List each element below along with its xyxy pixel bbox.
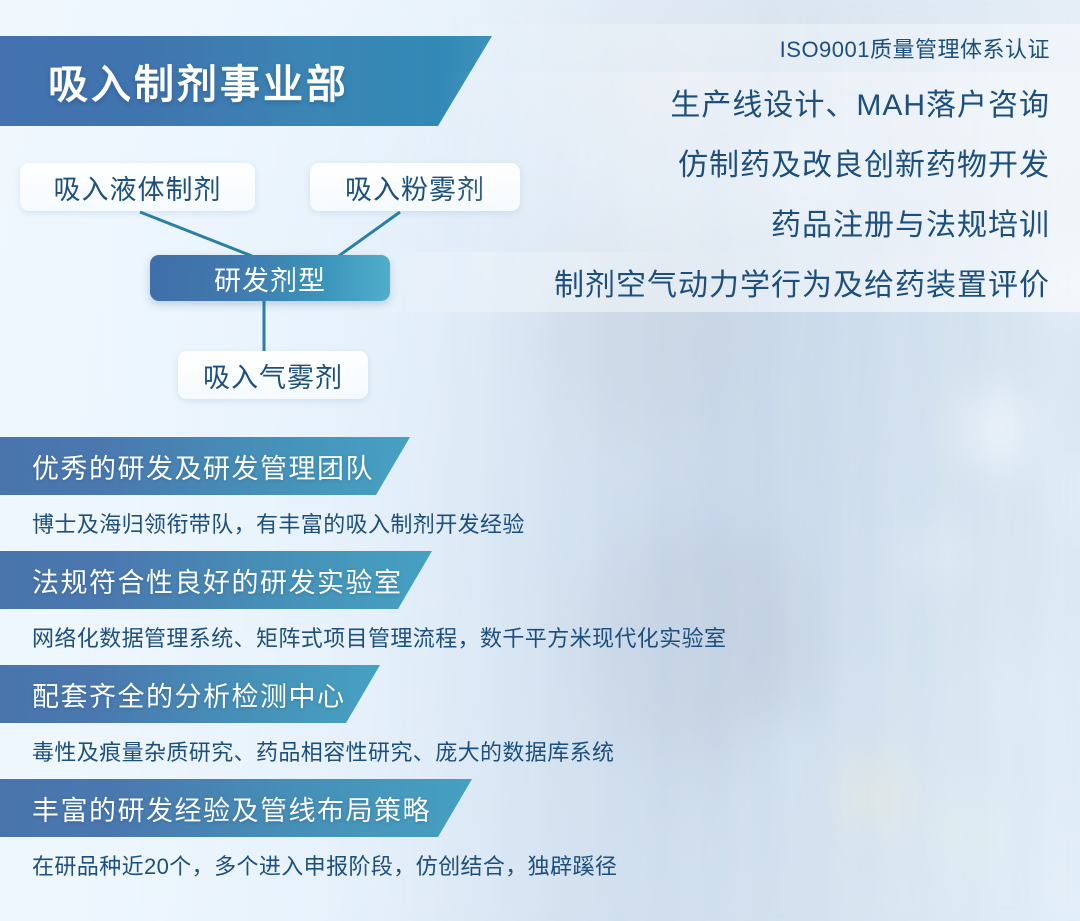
feature-description-label: 博士及海归领衔带队，有丰富的吸入制剂开发经验 xyxy=(32,507,525,539)
feature-title-bar: 法规符合性良好的研发实验室 xyxy=(0,551,432,609)
service-item-generic-drug-development: 仿制药及改良创新药物开发 xyxy=(440,132,1080,192)
feature-description: 在研品种近20个，多个进入申报阶段，仿创结合，独辟蹊径 xyxy=(0,837,760,893)
feature-block-laboratory: 法规符合性良好的研发实验室 网络化数据管理系统、矩阵式项目管理流程，数千平方米现… xyxy=(0,551,760,665)
feature-title-bar: 配套齐全的分析检测中心 xyxy=(0,665,380,723)
feature-block-analysis-center: 配套齐全的分析检测中心 毒性及痕量杂质研究、药品相容性研究、庞大的数据库系统 xyxy=(0,665,760,779)
feature-block-pipeline-strategy: 丰富的研发经验及管线布局策略 在研品种近20个，多个进入申报阶段，仿创结合，独辟… xyxy=(0,779,760,893)
feature-title-bar: 丰富的研发经验及管线布局策略 xyxy=(0,779,472,837)
service-item-registration-training: 药品注册与法规培训 xyxy=(440,192,1080,252)
service-item-label: 生产线设计、MAH落户咨询 xyxy=(670,80,1050,124)
service-item-label: 药品注册与法规培训 xyxy=(771,200,1050,244)
feature-description: 博士及海归领衔带队，有丰富的吸入制剂开发经验 xyxy=(0,495,760,551)
feature-description-label: 网络化数据管理系统、矩阵式项目管理流程，数千平方米现代化实验室 xyxy=(32,621,726,653)
service-item-label: 制剂空气动力学行为及给药装置评价 xyxy=(554,260,1050,304)
tree-node-inhalation-aerosol[interactable]: 吸入气雾剂 xyxy=(178,351,368,399)
title-banner: 吸入制剂事业部 xyxy=(0,36,492,126)
poster-canvas: 吸入制剂事业部 吸入液体制剂 吸入粉雾剂 研发剂型 吸入气雾剂 ISO9001质… xyxy=(0,0,1080,921)
feature-description-label: 毒性及痕量杂质研究、药品相容性研究、庞大的数据库系统 xyxy=(32,735,614,767)
service-item-iso9001: ISO9001质量管理体系认证 xyxy=(440,24,1080,72)
feature-description: 网络化数据管理系统、矩阵式项目管理流程，数千平方米现代化实验室 xyxy=(0,609,760,665)
feature-title-label: 优秀的研发及研发管理团队 xyxy=(32,447,374,486)
service-item-aerodynamic-evaluation: 制剂空气动力学行为及给药装置评价 xyxy=(320,252,1080,312)
feature-title-label: 配套齐全的分析检测中心 xyxy=(32,675,346,714)
feature-description-label: 在研品种近20个，多个进入申报阶段，仿创结合，独辟蹊径 xyxy=(32,849,617,881)
tree-node-inhalation-liquid[interactable]: 吸入液体制剂 xyxy=(20,163,255,211)
feature-description: 毒性及痕量杂质研究、药品相容性研究、庞大的数据库系统 xyxy=(0,723,760,779)
tree-node-label: 吸入气雾剂 xyxy=(203,356,343,395)
service-item-label: ISO9001质量管理体系认证 xyxy=(780,32,1050,64)
tree-node-label: 研发剂型 xyxy=(214,259,326,298)
feature-title-label: 丰富的研发经验及管线布局策略 xyxy=(32,789,431,828)
connector-liquid-to-root xyxy=(140,212,252,256)
service-list: ISO9001质量管理体系认证 生产线设计、MAH落户咨询 仿制药及改良创新药物… xyxy=(440,24,1080,312)
feature-block-team: 优秀的研发及研发管理团队 博士及海归领衔带队，有丰富的吸入制剂开发经验 xyxy=(0,437,760,551)
page-title: 吸入制剂事业部 xyxy=(48,52,349,110)
tree-node-label: 吸入液体制剂 xyxy=(54,168,222,207)
service-item-production-line-design: 生产线设计、MAH落户咨询 xyxy=(440,72,1080,132)
feature-list: 优秀的研发及研发管理团队 博士及海归领衔带队，有丰富的吸入制剂开发经验 法规符合… xyxy=(0,437,760,893)
service-item-label: 仿制药及改良创新药物开发 xyxy=(678,140,1050,184)
feature-title-bar: 优秀的研发及研发管理团队 xyxy=(0,437,410,495)
feature-title-label: 法规符合性良好的研发实验室 xyxy=(32,561,403,600)
